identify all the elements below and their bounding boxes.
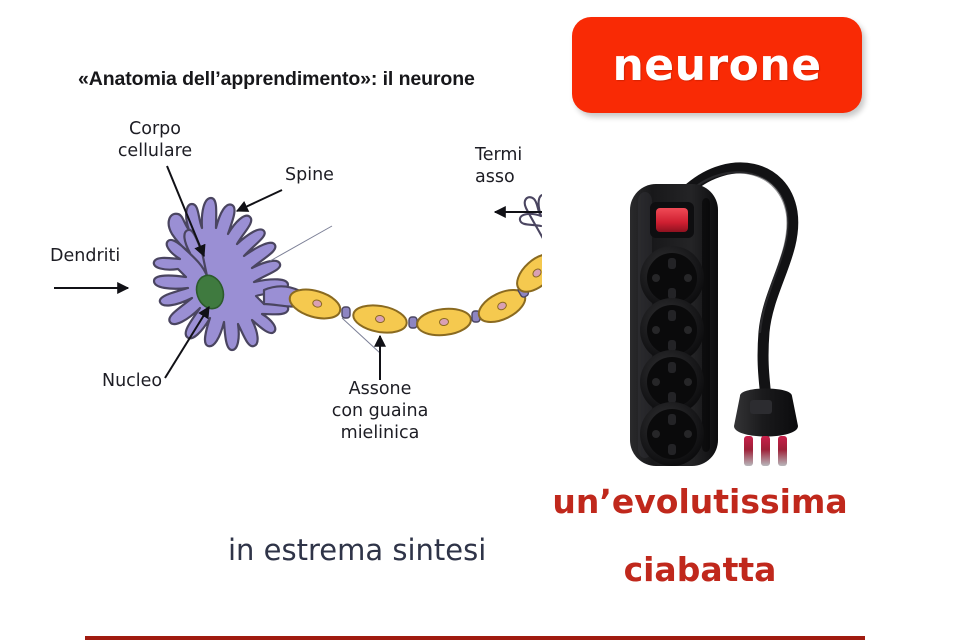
page-title: «Anatomia dell’apprendimento»: il neuron…	[78, 68, 548, 91]
bottom-divider	[85, 636, 865, 640]
label-nucleo: Nucleo	[102, 371, 162, 391]
caption-in-estrema-sintesi: in estrema sintesi	[228, 533, 486, 567]
leader-spine	[237, 190, 282, 211]
label-terminale-line2: asso	[475, 167, 515, 187]
label-assone-line2: con guaina	[332, 401, 429, 421]
power-switch	[650, 202, 694, 238]
slide-canvas: «Anatomia dell’apprendimento»: il neuron…	[0, 0, 967, 643]
myelin-sheath	[286, 247, 542, 337]
label-terminale-line1: Termi	[474, 145, 522, 165]
power-strip-image	[598, 148, 858, 478]
neuron-diagram: Corpo cellulare Spine Dendriti Nucleo As…	[32, 108, 542, 453]
label-dendriti: Dendriti	[50, 246, 120, 266]
socket	[640, 402, 704, 466]
soma-shape	[154, 198, 300, 350]
label-spine: Spine	[285, 165, 334, 185]
label-assone-line1: Assone	[349, 379, 412, 399]
label-assone-line3: mielinica	[341, 423, 420, 443]
axon-terminal-shape	[520, 194, 542, 248]
label-corpo-cellulare-line2: cellulare	[118, 141, 192, 161]
neurone-badge: neurone	[572, 17, 862, 113]
caption-ciabatta: ciabatta	[530, 550, 870, 589]
caption-unevolutissima: un’evolutissima	[530, 482, 870, 521]
label-corpo-cellulare-line1: Corpo	[129, 119, 181, 139]
neurone-badge-label: neurone	[612, 40, 821, 91]
power-plug	[734, 389, 798, 467]
